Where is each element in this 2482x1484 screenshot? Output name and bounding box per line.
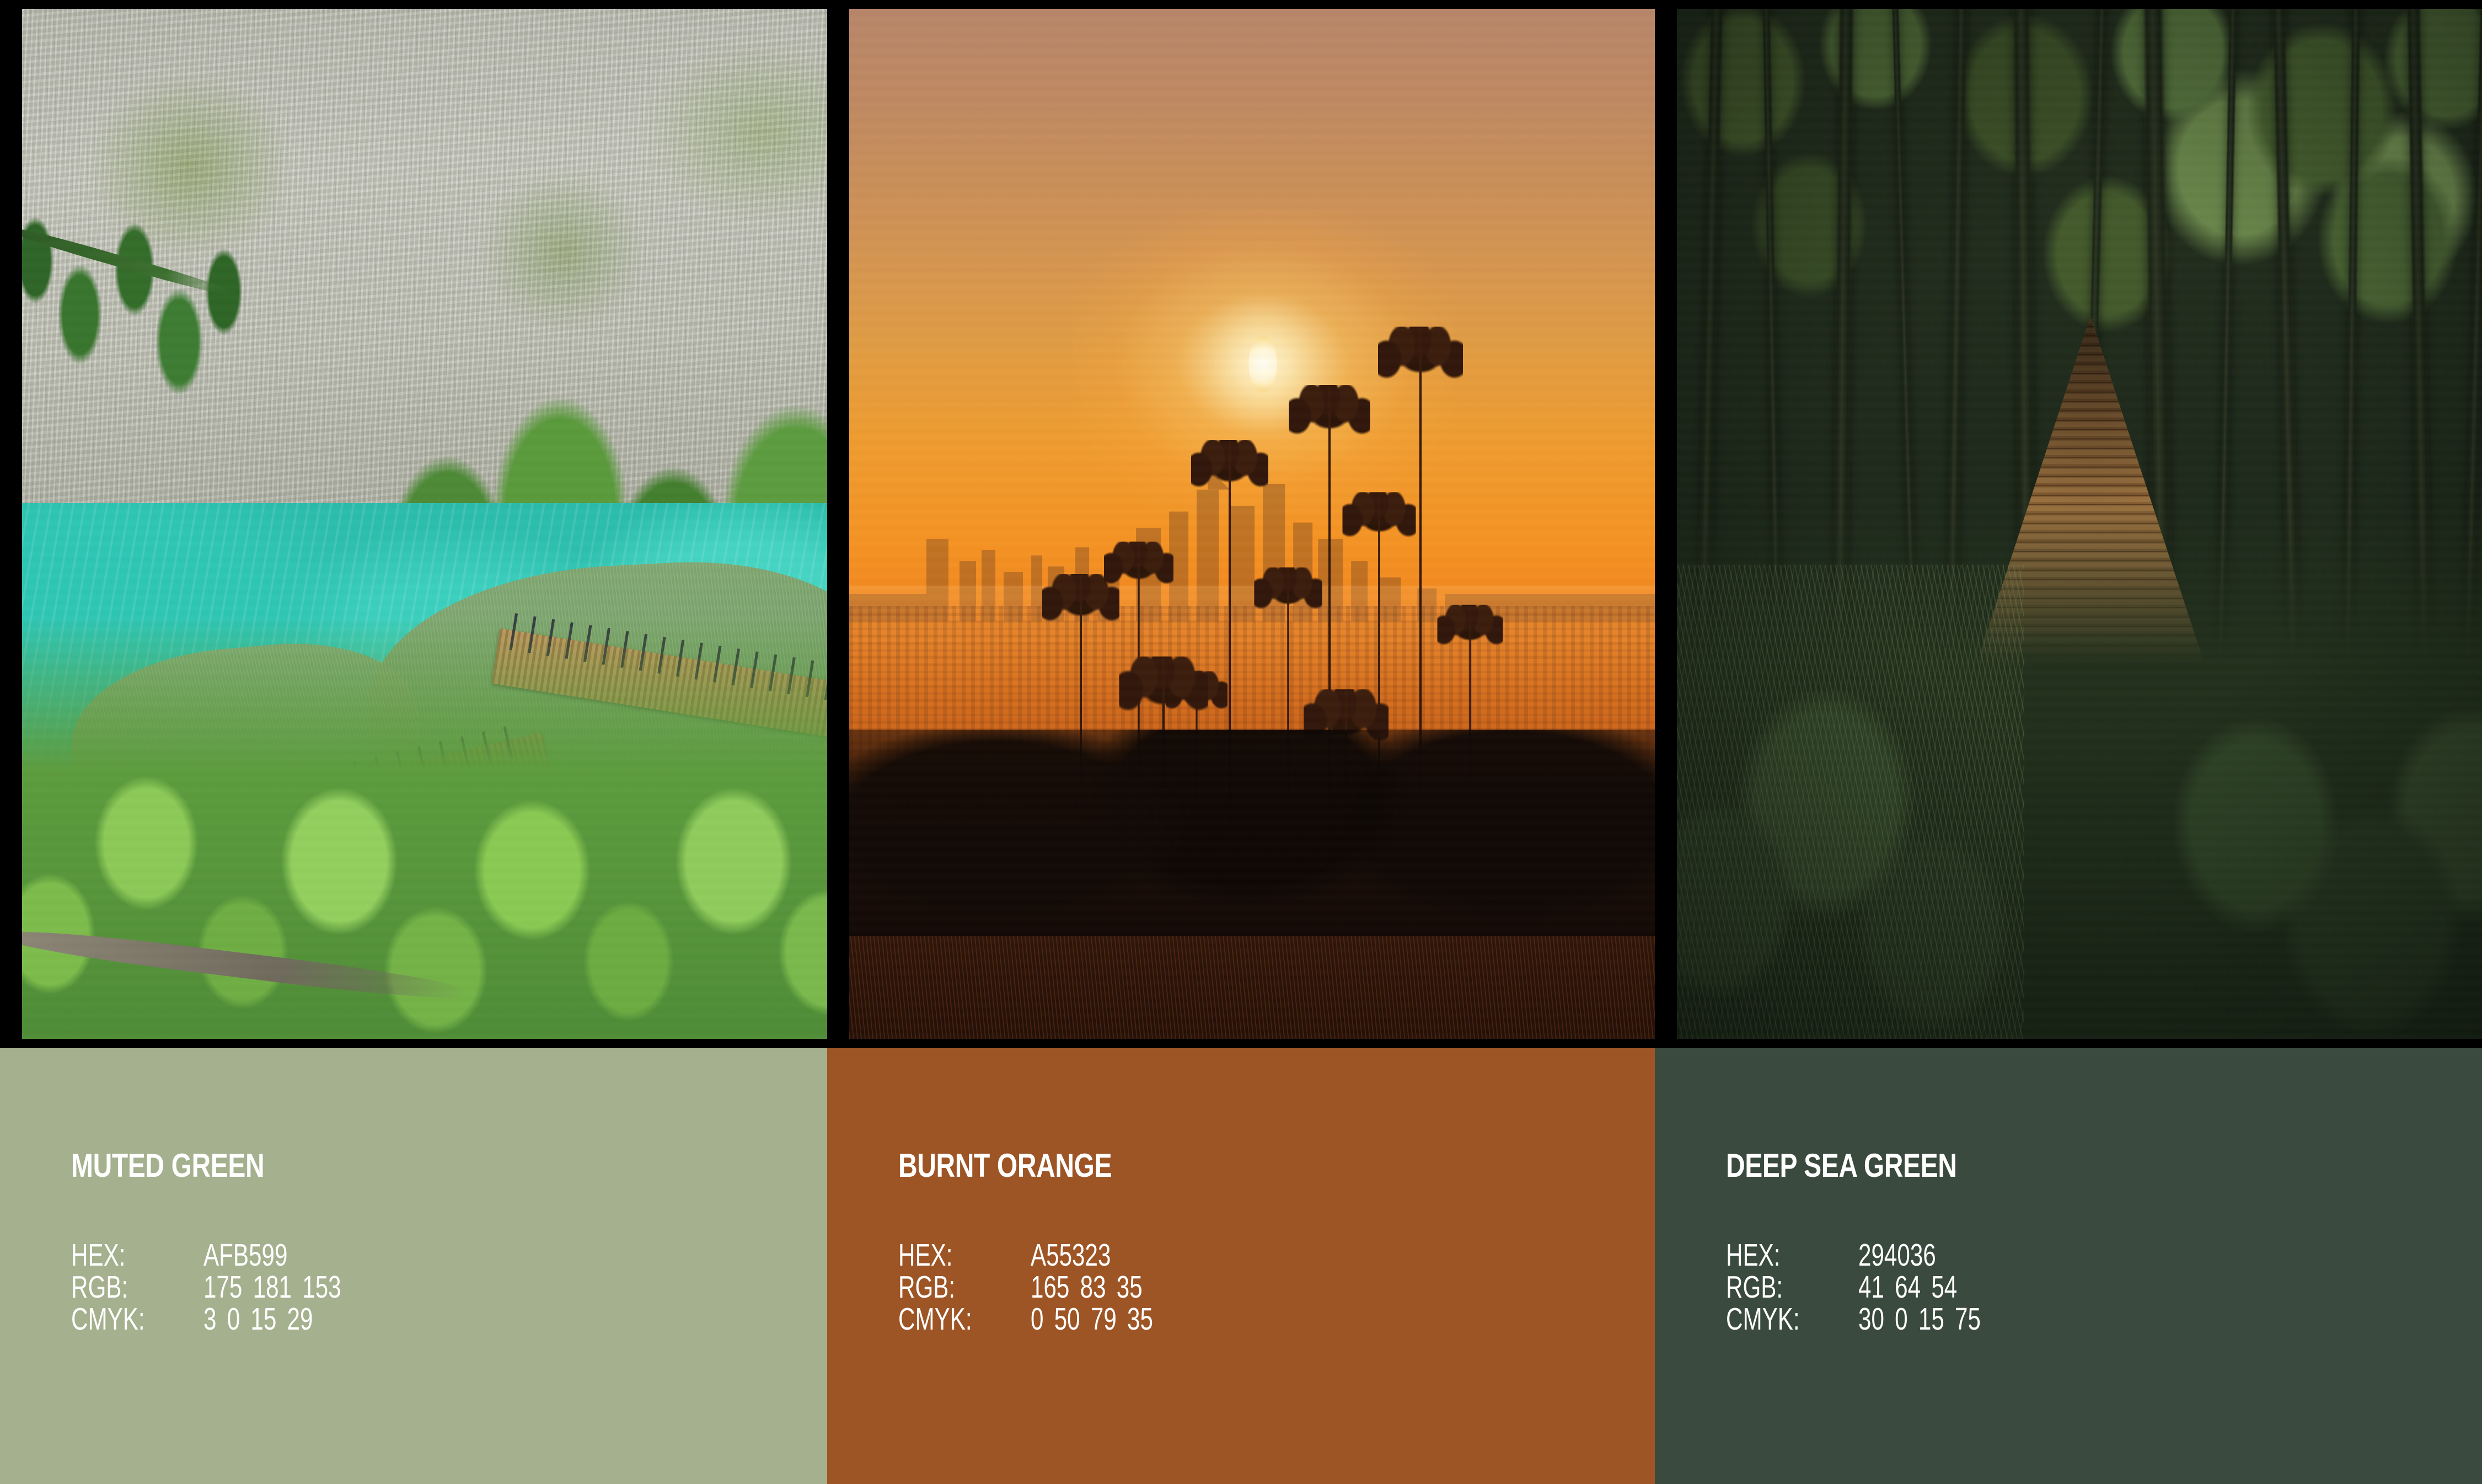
spec-label-cmyk: CMYK: (71, 1304, 194, 1335)
spec-value-cmyk: 301529 (203, 1304, 313, 1335)
rgb-g: 181 (253, 1269, 292, 1305)
foreground-foliage-shape (22, 617, 827, 1039)
palette-panel-deep-sea-green: DEEP SEA GREEN HEX: 294036 RGB: 416454 C… (1655, 0, 2482, 1484)
swatch-specs: HEX: A55323 RGB: 1658335 CMYK: 0507935 (898, 1240, 1196, 1336)
spec-label-hex: HEX: (1726, 1240, 1848, 1271)
rgb-r: 175 (203, 1269, 242, 1305)
spec-value-cmyk: 3001575 (1858, 1304, 1981, 1335)
spec-value-hex: A55323 (1031, 1240, 1111, 1271)
rgb-r: 41 (1858, 1269, 1884, 1305)
swatch-muted-green: MUTED GREEN HEX: AFB599 RGB: 175181153 C… (0, 1048, 827, 1484)
cmyk-y: 79 (1091, 1301, 1117, 1337)
rgb-g: 64 (1895, 1269, 1921, 1305)
photo-city-sunset (849, 9, 1654, 1039)
swatch-specs: HEX: AFB599 RGB: 175181153 CMYK: 301529 (71, 1240, 389, 1336)
spec-label-cmyk: CMYK: (898, 1304, 1021, 1335)
rgb-b: 54 (1931, 1269, 1957, 1305)
spec-row-hex: HEX: 294036 (1726, 1240, 2024, 1272)
rgb-r: 165 (1031, 1269, 1069, 1305)
swatch-specs: HEX: 294036 RGB: 416454 CMYK: 3001575 (1726, 1240, 2024, 1336)
spec-label-rgb: RGB: (898, 1272, 1021, 1303)
sun-disc (1249, 335, 1277, 393)
rgb-b: 153 (302, 1269, 341, 1305)
spec-row-rgb: RGB: 175181153 (71, 1272, 389, 1304)
swatch-burnt-orange: BURNT ORANGE HEX: A55323 RGB: 1658335 CM… (827, 1048, 1654, 1484)
palette-board: MUTED GREEN HEX: AFB599 RGB: 175181153 C… (0, 0, 2482, 1484)
cmyk-y: 15 (1918, 1301, 1944, 1337)
spec-label-rgb: RGB: (71, 1272, 194, 1303)
spec-label-hex: HEX: (898, 1240, 1021, 1271)
spec-label-hex: HEX: (71, 1240, 194, 1271)
swatch-deep-sea-green: DEEP SEA GREEN HEX: 294036 RGB: 416454 C… (1655, 1048, 2482, 1484)
photo-forest-boardwalk (1677, 9, 2482, 1039)
dry-grass-foreground (849, 936, 1654, 1039)
swatch-title: MUTED GREEN (71, 1149, 264, 1182)
spec-value-cmyk: 0507935 (1031, 1304, 1153, 1335)
spec-value-rgb: 416454 (1858, 1272, 1957, 1303)
cmyk-k: 35 (1127, 1301, 1153, 1337)
cmyk-k: 29 (287, 1301, 313, 1337)
cmyk-k: 75 (1955, 1301, 1981, 1337)
rgb-g: 83 (1080, 1269, 1106, 1305)
cmyk-m: 0 (227, 1301, 240, 1337)
spec-row-rgb: RGB: 416454 (1726, 1272, 2024, 1304)
spec-value-rgb: 175181153 (203, 1272, 341, 1303)
spec-row-rgb: RGB: 1658335 (898, 1272, 1196, 1304)
cmyk-c: 0 (1031, 1301, 1043, 1337)
spec-row-cmyk: CMYK: 3001575 (1726, 1304, 2024, 1336)
spec-row-cmyk: CMYK: 0507935 (898, 1304, 1196, 1336)
photo-lakes-aerial (22, 9, 827, 1039)
cmyk-m: 0 (1895, 1301, 1907, 1337)
spec-row-cmyk: CMYK: 301529 (71, 1304, 389, 1336)
palette-panel-burnt-orange: BURNT ORANGE HEX: A55323 RGB: 1658335 CM… (827, 0, 1654, 1484)
swatch-title: BURNT ORANGE (898, 1149, 1112, 1182)
cmyk-y: 15 (250, 1301, 276, 1337)
cmyk-c: 3 (203, 1301, 216, 1337)
cmyk-m: 50 (1054, 1301, 1080, 1337)
cmyk-c: 30 (1858, 1301, 1884, 1337)
spec-value-hex: AFB599 (203, 1240, 287, 1271)
spec-value-rgb: 1658335 (1031, 1272, 1143, 1303)
spec-label-cmyk: CMYK: (1726, 1304, 1848, 1335)
spec-row-hex: HEX: A55323 (898, 1240, 1196, 1272)
rgb-b: 35 (1117, 1269, 1143, 1305)
spec-label-rgb: RGB: (1726, 1272, 1848, 1303)
spec-value-hex: 294036 (1858, 1240, 1936, 1271)
vignette-overlay (1677, 9, 2482, 1039)
swatch-title: DEEP SEA GREEN (1726, 1149, 1957, 1182)
spec-row-hex: HEX: AFB599 (71, 1240, 389, 1272)
palette-panel-muted-green: MUTED GREEN HEX: AFB599 RGB: 175181153 C… (0, 0, 827, 1484)
